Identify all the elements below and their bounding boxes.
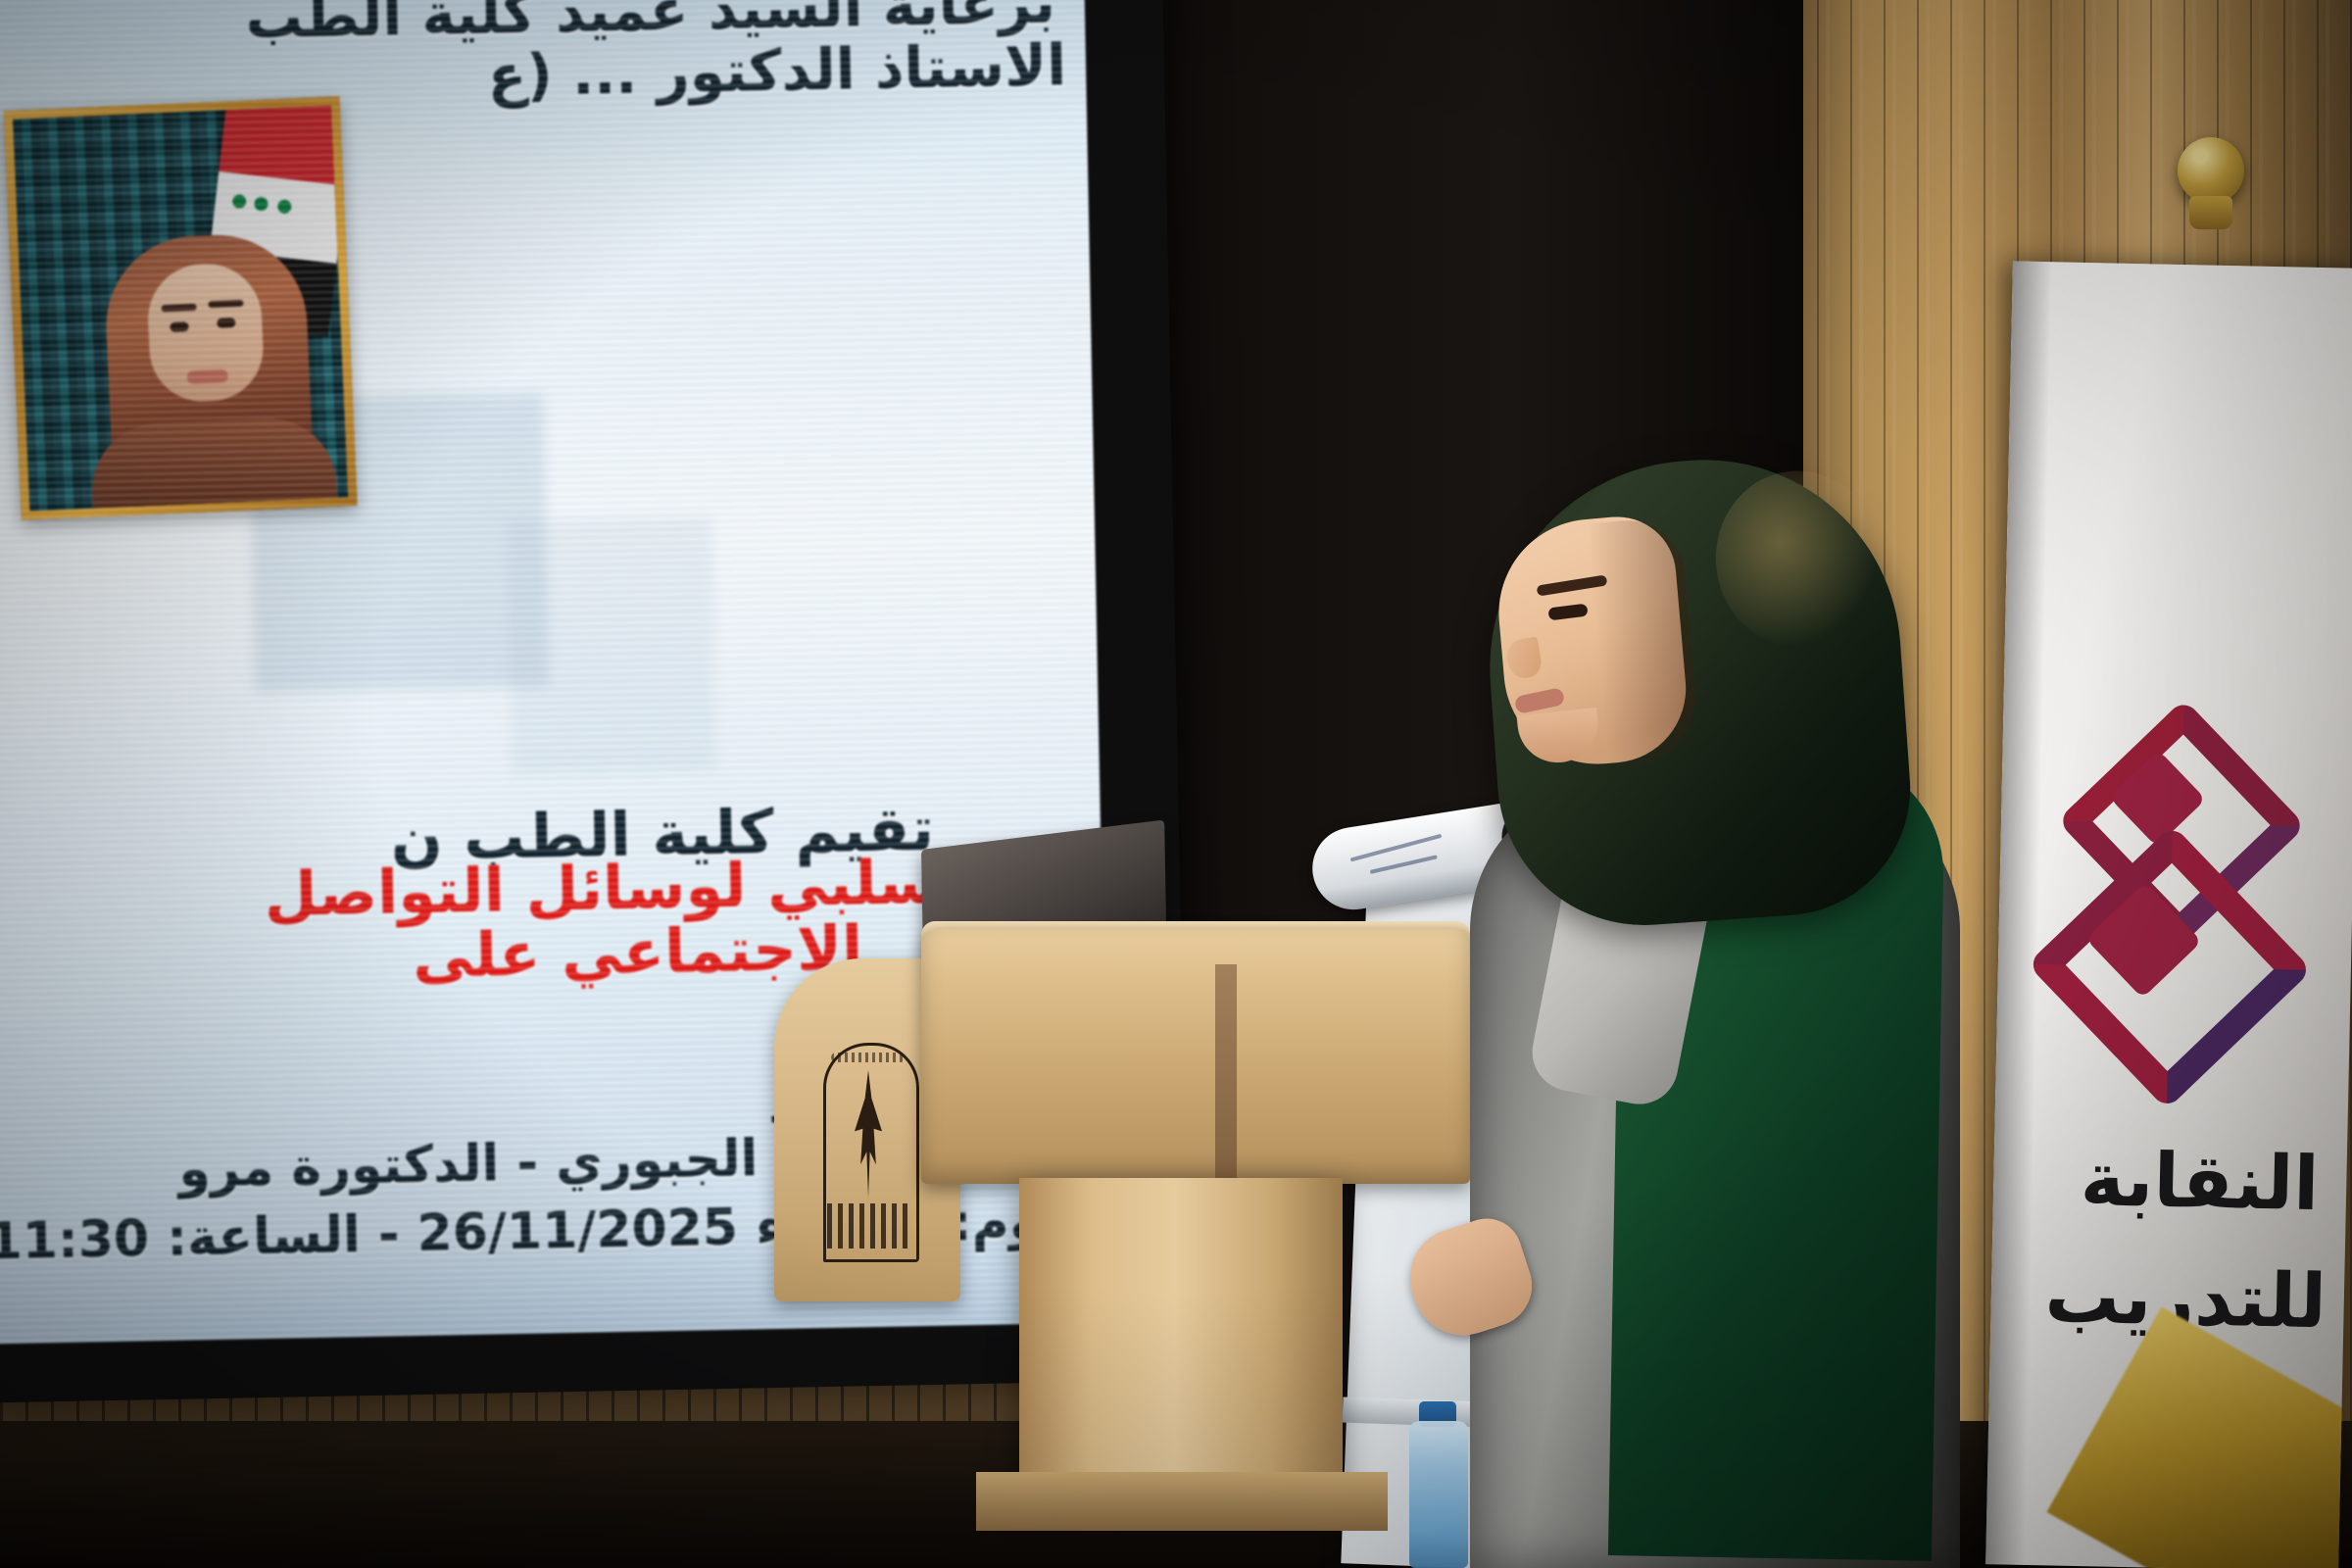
slide-line-2: الاستاذ الدكتور ... (ع bbox=[487, 31, 1067, 109]
lecture-hall-scene: برعاية السيد عميد كلية الطبالاستاذ الدكت… bbox=[0, 0, 2352, 1568]
slide-portrait-frame bbox=[4, 96, 358, 520]
slide-background-graphic-2 bbox=[507, 516, 717, 775]
banner-line-1: النقابة bbox=[2080, 1135, 2320, 1227]
podium-column bbox=[1019, 1178, 1343, 1501]
speaker-hijab-highlight bbox=[1710, 465, 1886, 653]
speaker-person bbox=[1450, 461, 1999, 1568]
portrait-person bbox=[102, 217, 316, 519]
flagpole-collar bbox=[2189, 196, 2232, 229]
portrait-brow-left bbox=[161, 304, 196, 313]
portrait-face bbox=[146, 262, 266, 404]
portrait-shoulders bbox=[89, 416, 338, 520]
podium bbox=[774, 911, 1470, 1568]
portrait-eye-left bbox=[170, 321, 188, 332]
banner-logo-icon bbox=[2045, 732, 2287, 1060]
university-emblem bbox=[817, 1037, 919, 1262]
portrait-brow-right bbox=[208, 300, 243, 309]
portrait-lips bbox=[186, 368, 228, 384]
emblem-text-en bbox=[831, 1053, 906, 1062]
portrait-eye-right bbox=[217, 318, 235, 328]
paper-handwriting-2 bbox=[1370, 855, 1438, 874]
emblem-text-ar bbox=[827, 1203, 909, 1249]
banner-gold-drape bbox=[2046, 1306, 2352, 1568]
podium-wood-stripe bbox=[1215, 964, 1237, 1201]
rollup-banner: النقابة للتدريب bbox=[1985, 261, 2352, 1568]
flagpole-finial-icon bbox=[2178, 137, 2244, 204]
podium-base bbox=[976, 1472, 1388, 1531]
podium-desktop bbox=[921, 929, 1470, 1184]
